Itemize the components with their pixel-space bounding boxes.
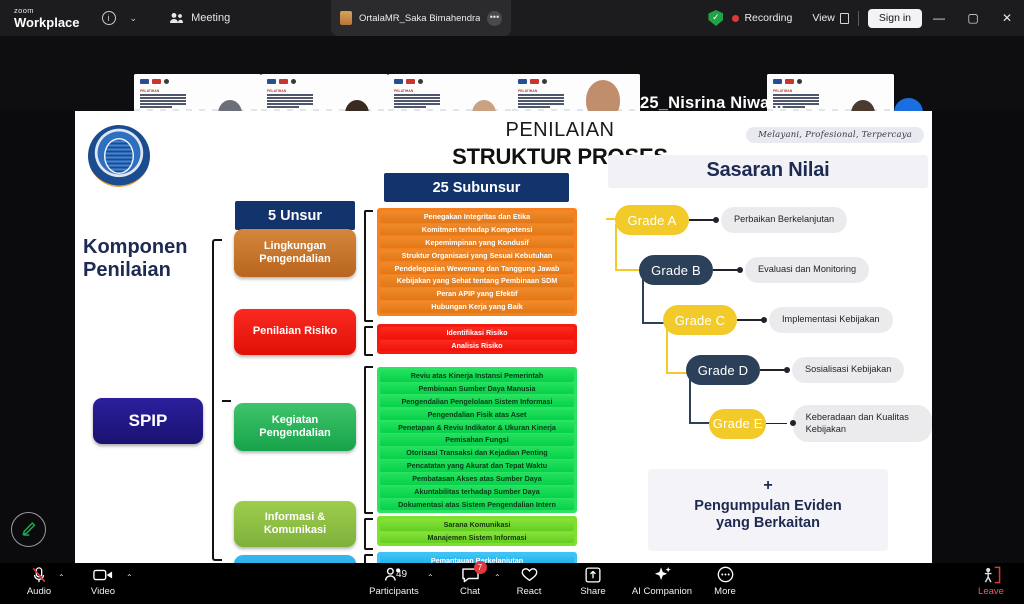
chevron-down-icon[interactable]: ⌄	[130, 13, 138, 24]
share-label: Share	[580, 586, 605, 597]
sparkle-icon	[653, 565, 672, 584]
more-label: More	[714, 586, 736, 597]
audio-options-caret-icon[interactable]: ⌃	[58, 573, 65, 582]
slide-red-heading: PELATIHAN	[394, 89, 413, 93]
grade-row-b: Grade B Evaluasi dan Monitoring	[639, 255, 869, 285]
brand-main: Workplace	[14, 16, 80, 29]
video-options-caret-icon[interactable]: ⌃	[126, 573, 133, 582]
chat-unread-badge: 7	[474, 561, 487, 574]
connector-line	[737, 319, 763, 321]
grade-pill: Grade A	[615, 205, 689, 235]
leave-button[interactable]: Leave	[962, 565, 1020, 597]
info-icon[interactable]: i	[102, 11, 116, 25]
grade-description: Evaluasi dan Monitoring	[745, 257, 869, 283]
leave-door-icon	[982, 565, 1001, 584]
shared-screen-tab[interactable]: OrtalaMR_Saka Bimahendra's scre •••	[331, 0, 511, 36]
title-bar-right: ✓ Recording View Sign in — ▢ ✕	[708, 0, 1024, 36]
slide-text-lines	[394, 94, 440, 109]
grade-description: Sosialisasi Kebijakan	[792, 357, 904, 383]
slide-red-heading: PELATIHAN	[518, 89, 537, 93]
heart-icon	[521, 565, 538, 584]
grade-pill: Grade E	[709, 409, 766, 439]
meeting-controls-toolbar: Audio ⌃ Video ⌃ Participants 49	[0, 563, 1024, 604]
leave-label: Leave	[978, 586, 1004, 597]
slide-red-heading: PELATIHAN	[140, 89, 159, 93]
view-layout-icon	[840, 13, 849, 24]
view-label: View	[812, 12, 835, 24]
grade-row-c: Grade C Implementasi Kebijakan	[663, 305, 893, 335]
sign-in-button[interactable]: Sign in	[868, 9, 922, 28]
grade-description: Keberadaan dan Kualitas Kebijakan	[793, 405, 932, 442]
participant-thumbnail-strip: PELATIHAN 11_Eni Yuni Hastutik_Kanw... P…	[0, 36, 1024, 111]
view-button[interactable]: View	[812, 12, 849, 24]
slide-text-lines	[267, 94, 313, 109]
people-icon	[169, 12, 184, 24]
meeting-label: Meeting	[191, 12, 230, 24]
chat-icon: 7	[461, 565, 480, 584]
close-button[interactable]: ✕	[990, 0, 1024, 36]
title-bar: zoom Workplace i ⌄ Meeting OrtalaMR_Saka…	[0, 0, 1024, 36]
slide-text-lines	[140, 94, 186, 109]
brand-small: zoom	[14, 7, 80, 15]
recording-dot-icon	[732, 15, 739, 22]
recording-label: Recording	[744, 12, 792, 24]
react-label: React	[517, 586, 542, 597]
pencil-icon	[20, 521, 37, 538]
participants-button[interactable]: Participants 49	[362, 565, 426, 597]
minimize-button[interactable]: —	[922, 0, 956, 36]
grade-pill: Grade B	[639, 255, 713, 285]
share-screen-icon	[585, 565, 601, 584]
chat-button[interactable]: 7 Chat	[441, 565, 499, 597]
plus-icon: +	[648, 478, 888, 494]
slide-logos	[773, 79, 802, 84]
divider	[858, 11, 859, 26]
grade-row-d: Grade D Sosialisasi Kebijakan	[686, 355, 904, 385]
tab-thumbnail-icon	[340, 11, 352, 25]
maximize-button[interactable]: ▢	[956, 0, 990, 36]
share-button[interactable]: Share	[564, 565, 622, 597]
ai-companion-label: AI Companion	[632, 586, 692, 597]
grade-pill: Grade C	[663, 305, 737, 335]
slide-logos	[394, 79, 423, 84]
zoom-workplace-logo: zoom Workplace	[14, 7, 80, 29]
grade-description: Implementasi Kebijakan	[769, 307, 893, 333]
participants-count: 49	[396, 569, 407, 580]
eviden-text: Pengumpulan Evidenyang Berkaitan	[648, 498, 888, 533]
connector-line	[766, 423, 786, 425]
more-button[interactable]: More	[696, 565, 754, 597]
connector-line	[689, 219, 715, 221]
audio-label: Audio	[27, 586, 51, 597]
slide-logos	[267, 79, 296, 84]
ai-companion-button[interactable]: AI Companion	[625, 565, 699, 597]
grade-row-e: Grade E Keberadaan dan Kualitas Kebijaka…	[709, 405, 932, 442]
video-button[interactable]: Video	[74, 565, 132, 597]
connector-line	[760, 369, 786, 371]
grade-description: Perbaikan Berkelanjutan	[721, 207, 847, 233]
video-label: Video	[91, 586, 115, 597]
recording-indicator[interactable]: Recording	[732, 12, 792, 24]
tab-title: OrtalaMR_Saka Bimahendra's scre	[359, 13, 480, 24]
slide-red-heading: PELATIHAN	[267, 89, 286, 93]
eviden-box: + Pengumpulan Evidenyang Berkaitan	[648, 469, 888, 551]
tab-more-icon[interactable]: •••	[487, 11, 502, 26]
connector-line	[713, 269, 739, 271]
camera-icon	[93, 565, 113, 584]
slide-logos	[140, 79, 169, 84]
shield-check-icon[interactable]: ✓	[708, 10, 723, 26]
slide-text-lines	[518, 94, 564, 109]
meeting-tab[interactable]: Meeting	[169, 12, 230, 24]
slide-logos	[518, 79, 547, 84]
zoom-meeting-window: zoom Workplace i ⌄ Meeting OrtalaMR_Saka…	[0, 0, 1024, 604]
ellipsis-icon	[717, 565, 734, 584]
react-button[interactable]: React	[500, 565, 558, 597]
slide-red-heading: PELATIHAN	[773, 89, 792, 93]
chat-label: Chat	[460, 586, 480, 597]
annotate-pen-button[interactable]	[11, 512, 46, 547]
microphone-muted-icon	[31, 565, 47, 584]
shared-screen-content: PENILAIAN STRUKTUR PROSES Melayani, Prof…	[75, 111, 932, 563]
grade-row-a: Grade A Perbaikan Berkelanjutan	[615, 205, 847, 235]
participants-options-caret-icon[interactable]: ⌃	[427, 573, 434, 582]
participants-label: Participants	[369, 586, 419, 597]
grade-pill: Grade D	[686, 355, 760, 385]
